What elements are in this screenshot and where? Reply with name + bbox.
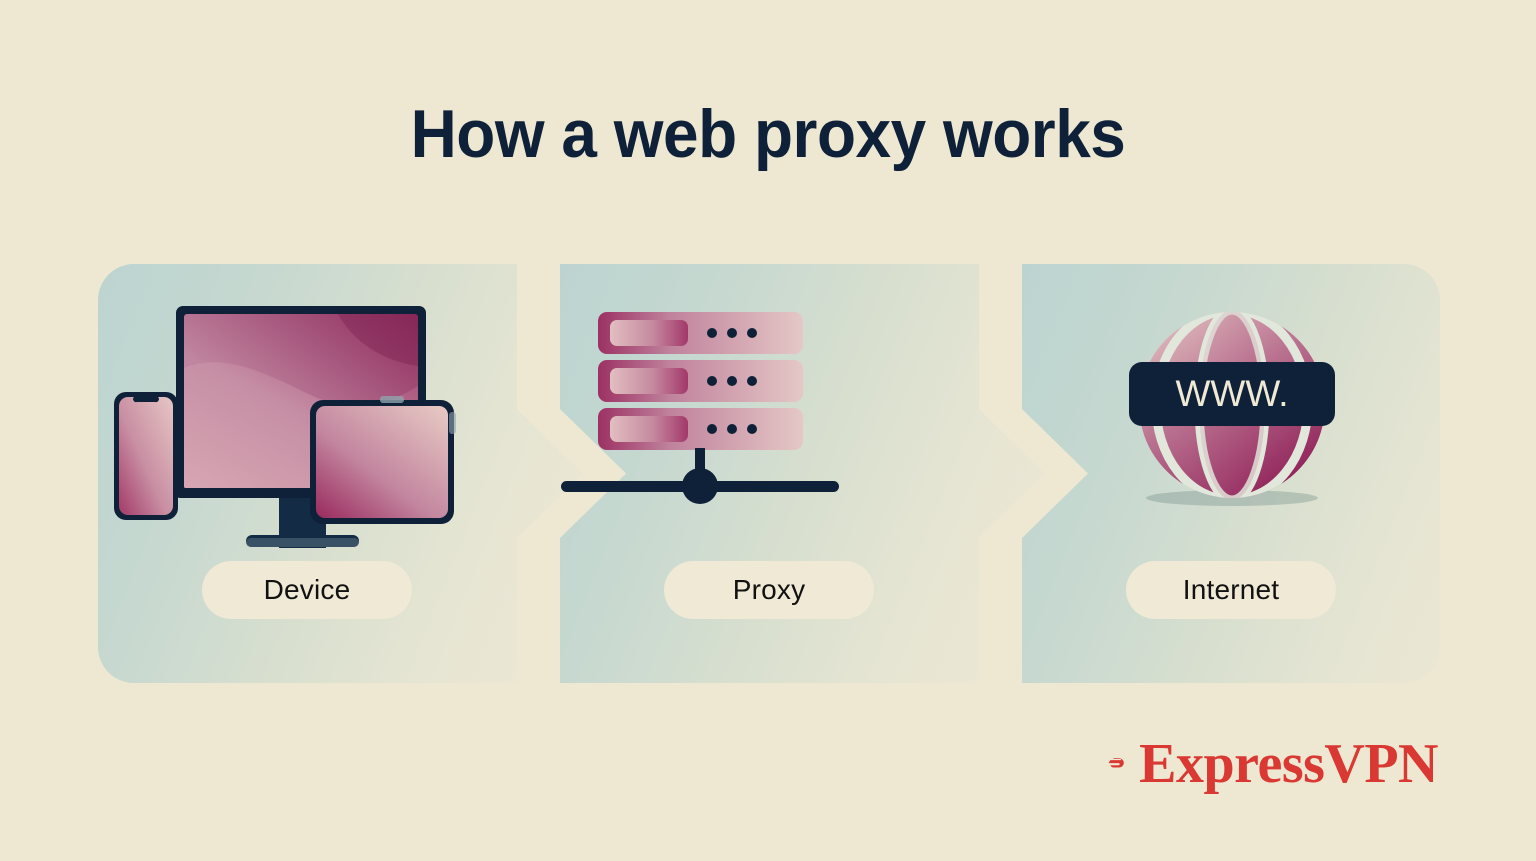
tablet-icon (310, 396, 456, 524)
expressvpn-wordmark: ExpressVPN (1139, 736, 1438, 792)
server-stack-icon (560, 300, 979, 550)
server-rack (598, 408, 803, 450)
flow-step-device: Device (98, 264, 585, 683)
globe-icon: WWW. (1022, 300, 1441, 550)
devices-icon (98, 300, 517, 550)
network-line-icon (561, 448, 839, 504)
page-title: How a web proxy works (46, 86, 1490, 182)
globe-www-text: WWW. (1175, 373, 1288, 414)
flow-step-label-internet[interactable]: Internet (1126, 561, 1336, 619)
flow-step-label-device[interactable]: Device (202, 561, 412, 619)
expressvpn-e-icon (1108, 729, 1125, 799)
expressvpn-logo[interactable]: ExpressVPN (1108, 722, 1438, 806)
proxy-flow-diagram: Device (0, 264, 1536, 684)
server-rack (598, 360, 803, 402)
flow-step-label-proxy[interactable]: Proxy (664, 561, 874, 619)
globe-www-band: WWW. (1129, 362, 1335, 426)
smartphone-icon (114, 392, 178, 520)
flow-step-internet: WWW. Internet (1022, 264, 1509, 683)
server-rack (598, 312, 803, 354)
flow-step-proxy: Proxy (560, 264, 1047, 683)
